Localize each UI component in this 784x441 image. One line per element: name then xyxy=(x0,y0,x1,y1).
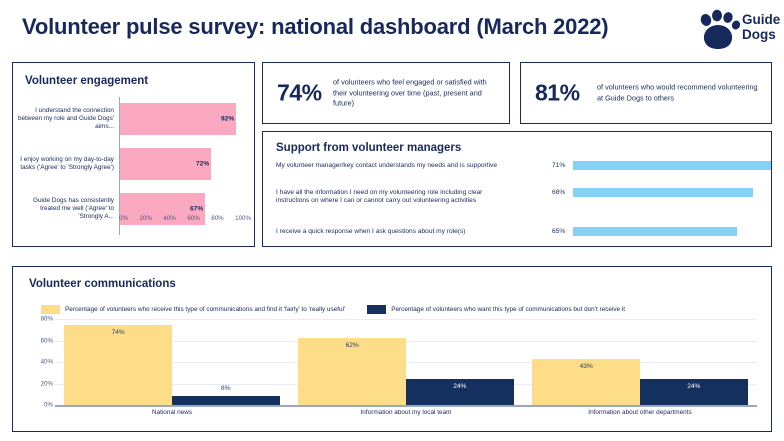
x-tick: 0% xyxy=(119,215,128,222)
support-row: I have all the information I need on my … xyxy=(276,189,761,228)
category-label: National news xyxy=(55,409,289,416)
y-tick: 20% xyxy=(41,380,53,387)
page-title: Volunteer pulse survey: national dashboa… xyxy=(22,14,608,40)
bar-value-receive: 62% xyxy=(298,342,406,349)
engagement-bar-value: 92% xyxy=(221,116,234,123)
support-bar-value: 71% xyxy=(552,162,565,169)
x-tick: 60% xyxy=(187,215,199,222)
support-bar-track xyxy=(573,188,771,197)
engagement-row: Guide Dogs has consistently treated me w… xyxy=(17,189,252,229)
legend-label-receive: Percentage of volunteers who receive thi… xyxy=(65,306,345,313)
support-bar xyxy=(573,227,737,236)
engagement-bar-value: 67% xyxy=(190,206,203,213)
support-bar-track xyxy=(573,227,771,236)
legend-swatch-receive xyxy=(41,305,60,314)
engagement-row: I enjoy working on my day-to-day tasks (… xyxy=(17,144,252,184)
stat-description: of volunteers who would recommend volunt… xyxy=(597,83,762,104)
engagement-bar-track: 92% xyxy=(119,99,247,139)
x-tick: 40% xyxy=(163,215,175,222)
logo-line-1: Guide xyxy=(742,12,780,27)
communications-bar-chart: 0% 20% 40% 60% 80% 74% xyxy=(29,319,757,427)
x-tick: 80% xyxy=(211,215,223,222)
engagement-bar-chart: I understand the connection between my r… xyxy=(17,99,252,244)
panel-volunteer-communications: Volunteer communications Percentage of v… xyxy=(12,266,772,432)
engagement-category-label: I understand the connection between my r… xyxy=(17,107,119,132)
engagement-category-label: Guide Dogs has consistently treated me w… xyxy=(17,197,119,222)
stat-card-engaged-satisfied: 74% of volunteers who feel engaged or sa… xyxy=(262,62,510,124)
bar-group-other-departments: 43% 24% Information about other departme… xyxy=(523,319,757,405)
engagement-bar xyxy=(120,103,236,135)
bar-want: 24% xyxy=(406,379,514,405)
guide-dogs-logo: Guide Dogs xyxy=(698,9,776,51)
bar-value-want: 8% xyxy=(172,385,280,392)
paw-print-icon xyxy=(698,9,742,51)
bar-wrap-want: 24% xyxy=(640,319,748,405)
support-category-label: I have all the information I need on my … xyxy=(276,189,548,206)
bar-receive: 74% xyxy=(64,325,172,405)
engagement-bar-track: 67% xyxy=(119,189,247,229)
communications-y-axis: 0% 20% 40% 60% 80% xyxy=(29,319,55,405)
bar-pair: 43% 24% xyxy=(523,319,757,405)
bar-wrap-receive: 43% xyxy=(532,319,640,405)
engagement-panel-title: Volunteer engagement xyxy=(25,75,148,87)
support-bar xyxy=(573,161,771,170)
support-bar xyxy=(573,188,753,197)
engagement-x-axis: 0% 20% 40% 60% 80% 100% xyxy=(119,215,251,222)
category-label: Information about other departments xyxy=(523,409,757,416)
bar-receive: 43% xyxy=(532,359,640,405)
engagement-bar-value: 72% xyxy=(196,161,209,168)
legend-swatch-want xyxy=(367,305,386,314)
bar-pair: 62% 24% xyxy=(289,319,523,405)
bar-value-receive: 74% xyxy=(64,329,172,336)
bar-wrap-want: 8% xyxy=(172,319,280,405)
category-label: Information about my local team xyxy=(289,409,523,416)
support-row: My volunteer manager/key contact underst… xyxy=(276,162,761,189)
communications-baseline xyxy=(55,405,757,407)
bar-wrap-receive: 74% xyxy=(64,319,172,405)
support-panel-title: Support from volunteer managers xyxy=(276,142,461,154)
support-bar-track xyxy=(573,161,771,170)
x-tick: 20% xyxy=(139,215,151,222)
support-bar-value: 68% xyxy=(552,189,565,196)
y-tick: 0% xyxy=(44,402,53,409)
support-bar-value: 65% xyxy=(552,228,565,235)
legend-item-want: Percentage of volunteers who want this t… xyxy=(367,305,625,314)
panel-support-from-volunteer-managers: Support from volunteer managers My volun… xyxy=(262,131,772,247)
support-bar-chart: My volunteer manager/key contact underst… xyxy=(276,162,761,255)
legend-item-receive: Percentage of volunteers who receive thi… xyxy=(41,305,345,314)
engagement-row: I understand the connection between my r… xyxy=(17,99,252,139)
y-tick: 40% xyxy=(41,359,53,366)
bar-value-want: 24% xyxy=(640,383,748,390)
communications-bar-groups: 74% 8% National news xyxy=(55,319,757,405)
logo-wordmark: Guide Dogs xyxy=(742,12,780,42)
x-tick: 100% xyxy=(235,215,251,222)
bar-want: 8% xyxy=(172,396,280,405)
y-tick: 80% xyxy=(41,316,53,323)
engagement-bar-track: 72% xyxy=(119,144,247,184)
support-category-label: I receive a quick response when I ask qu… xyxy=(276,228,548,236)
stat-description: of volunteers who feel engaged or satisf… xyxy=(333,77,500,109)
bar-group-local-team: 62% 24% Information about my local team xyxy=(289,319,523,405)
dashboard-page: Volunteer pulse survey: national dashboa… xyxy=(0,0,784,441)
bar-receive: 62% xyxy=(298,338,406,405)
engagement-category-label: I enjoy working on my day-to-day tasks (… xyxy=(17,156,119,172)
bar-pair: 74% 8% xyxy=(55,319,289,405)
support-category-label: My volunteer manager/key contact underst… xyxy=(276,162,548,170)
bar-want: 24% xyxy=(640,379,748,405)
stat-card-would-recommend: 81% of volunteers who would recommend vo… xyxy=(520,62,772,124)
logo-line-2: Dogs xyxy=(742,27,780,42)
bar-group-national-news: 74% 8% National news xyxy=(55,319,289,405)
communications-legend: Percentage of volunteers who receive thi… xyxy=(41,305,647,314)
support-row: I receive a quick response when I ask qu… xyxy=(276,228,761,255)
communications-panel-title: Volunteer communications xyxy=(29,278,176,290)
legend-label-want: Percentage of volunteers who want this t… xyxy=(391,306,625,313)
y-tick: 60% xyxy=(41,337,53,344)
panel-volunteer-engagement: Volunteer engagement I understand the co… xyxy=(12,62,255,247)
bar-wrap-want: 24% xyxy=(406,319,514,405)
stat-value: 74% xyxy=(277,80,322,107)
stat-value: 81% xyxy=(535,80,580,107)
bar-value-receive: 43% xyxy=(532,363,640,370)
bar-wrap-receive: 62% xyxy=(298,319,406,405)
page-header: Volunteer pulse survey: national dashboa… xyxy=(0,0,784,58)
bar-value-want: 24% xyxy=(406,383,514,390)
